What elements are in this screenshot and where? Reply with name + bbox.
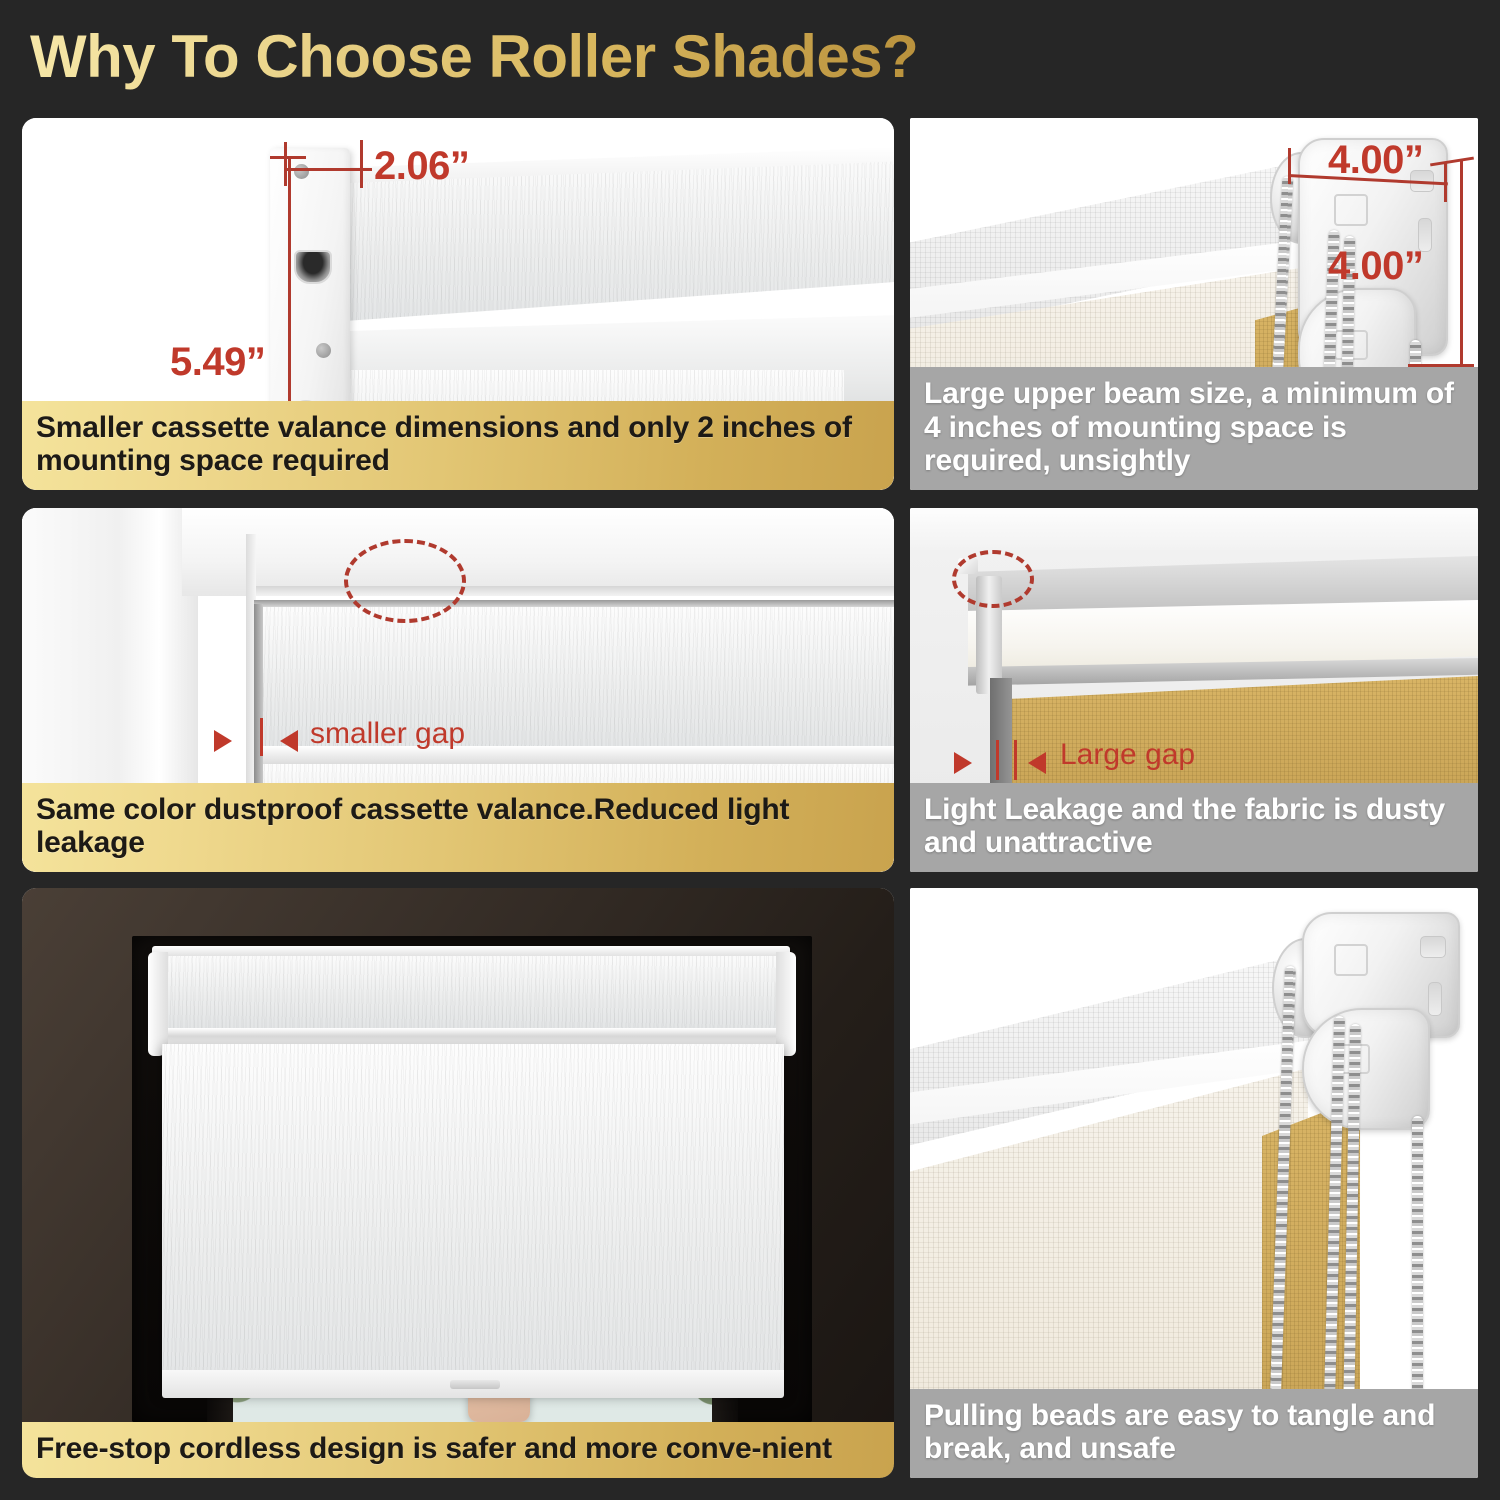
- valance-right-endcap: [776, 952, 796, 1056]
- gap-tick-1: [996, 740, 999, 780]
- dim-width-line: [284, 168, 372, 171]
- panel-large-beam: 4.00” 4.00” Large upper beam size, a min…: [910, 118, 1478, 490]
- window-frame-top: [182, 508, 894, 596]
- panel-5-photo: [22, 888, 894, 1478]
- valance-rail-groove: [154, 1028, 788, 1044]
- panel-2-caption: Large upper beam size, a minimum of 4 in…: [910, 367, 1478, 490]
- panel-5-caption: Free-stop cordless design is safer and m…: [22, 1422, 894, 1478]
- panel-6-caption: Pulling beads are easy to tangle and bre…: [910, 1389, 1478, 1478]
- dim-w-tick-l: [1288, 148, 1291, 184]
- gap-label: Large gap: [1060, 738, 1195, 772]
- dashed-callout-ellipse: [344, 539, 466, 623]
- panel-dustproof-valance: smaller gap Same color dustproof cassett…: [22, 508, 894, 872]
- valance-headrail-top-edge: [152, 946, 790, 956]
- panel-1-caption: Smaller cassette valance dimensions and …: [22, 401, 894, 490]
- page-title: Why To Choose Roller Shades?: [30, 22, 918, 91]
- panel-light-leakage: Large gap Light Leakage and the fabric i…: [910, 508, 1478, 872]
- gap-arrow-right: [280, 730, 298, 752]
- bracket-slot: [294, 250, 332, 284]
- dim-width-tick-left: [284, 142, 287, 186]
- gap-arrow-left: [214, 730, 232, 752]
- bracket-screw-mid: [316, 343, 331, 358]
- gap-tick-2: [1014, 740, 1017, 780]
- dim-h-label: 4.00”: [1328, 244, 1423, 289]
- gap-arrow-left: [954, 752, 972, 774]
- dim-width-tick-right: [360, 140, 363, 188]
- shade-fabric-main: [162, 1044, 784, 1392]
- bracket-notch-mid: [1428, 982, 1442, 1016]
- panel-smaller-cassette: 2.06” 5.49” Smaller cassette valance dim…: [22, 118, 894, 490]
- ceiling-band: [910, 508, 1478, 550]
- gap-arrow-right: [1028, 752, 1046, 774]
- window-frame-inner-edge: [246, 586, 894, 596]
- bracket-screw-top: [294, 164, 309, 179]
- dim-width-label: 2.06”: [374, 144, 469, 189]
- valance-top-edge: [254, 600, 894, 607]
- gap-label: smaller gap: [310, 717, 465, 751]
- infographic-root: Why To Choose Roller Shades? 2.06”: [0, 0, 1500, 1500]
- panel-3-caption: Same color dustproof cassette valance.Re…: [22, 783, 894, 872]
- bracket-notch-top: [1420, 936, 1446, 958]
- bracket-logo-upper: [1334, 194, 1368, 226]
- valance-left-endcap: [148, 952, 168, 1056]
- panel-4-caption: Light Leakage and the fabric is dusty an…: [910, 783, 1478, 872]
- dim-w-label: 4.00”: [1328, 138, 1423, 183]
- valance-headrail: [152, 950, 790, 1028]
- bracket-logo-upper: [1334, 944, 1368, 976]
- panel-pulling-beads: Pulling beads are easy to tangle and bre…: [910, 888, 1478, 1478]
- shade-pull-tab: [450, 1380, 500, 1389]
- dashed-callout-ellipse: [952, 550, 1034, 608]
- gap-tick: [260, 718, 263, 756]
- dim-height-label: 5.49”: [170, 340, 265, 385]
- dim-height-tick-top: [270, 156, 306, 159]
- panel-cordless-design: Free-stop cordless design is safer and m…: [22, 888, 894, 1478]
- dim-h-line: [1460, 160, 1463, 366]
